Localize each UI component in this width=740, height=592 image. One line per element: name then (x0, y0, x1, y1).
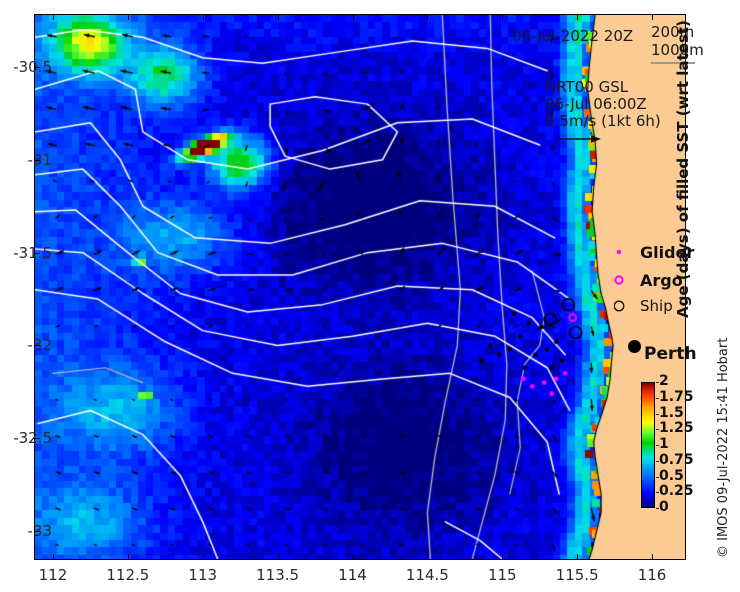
colorbar-tick-label: 0 (659, 499, 669, 515)
colorbar-tick-mark (656, 461, 659, 462)
city-dot-icon (628, 340, 641, 353)
y-tick-label: -32.5 (0, 429, 52, 447)
x-tick-mark (128, 554, 129, 560)
city-label-perth: Perth (644, 344, 697, 364)
colorbar-tick-label: 0.75 (659, 452, 694, 468)
x-tick-label: 116 (617, 566, 687, 584)
x-tick-mark (353, 14, 354, 20)
current-scale-label: 0.5m/s (1kt 6h) (545, 112, 661, 130)
x-tick-label: 115.5 (542, 566, 612, 584)
colorbar-tick-mark (656, 492, 659, 493)
x-tick-mark (128, 14, 129, 20)
colorbar-tick-label: 1 (659, 436, 669, 452)
figure-root: 06-Jul-2022 20Z 200m 1000m NRT00 GSL 06-… (0, 0, 740, 592)
x-tick-mark (652, 554, 653, 560)
y-tick-label: -32 (0, 336, 52, 354)
y-tick-mark (34, 531, 40, 532)
y-tick-mark (34, 345, 40, 346)
legend-label-ship: Ship (640, 297, 673, 315)
x-tick-mark (203, 554, 204, 560)
x-tick-mark (53, 554, 54, 560)
x-tick-mark (427, 554, 428, 560)
x-tick-label: 112 (18, 566, 88, 584)
colorbar-tick-mark (656, 477, 659, 478)
colorbar-tick-mark (656, 445, 659, 446)
x-tick-label: 112.5 (93, 566, 163, 584)
colorbar-tick-label: 1.75 (659, 389, 694, 405)
colorbar-tick-label: 2 (659, 373, 669, 389)
colorbar (641, 382, 655, 508)
x-tick-mark (502, 14, 503, 20)
colorbar-tick-label: 1.5 (659, 405, 684, 421)
y-tick-mark (34, 253, 40, 254)
colorbar-title: Age (days) of filled SST (wrt latest) (674, 20, 692, 318)
colorbar-tick-mark (656, 382, 659, 383)
credit-text: © IMOS 09-Jul-2022 15:41 Hobart (716, 338, 731, 558)
x-tick-mark (577, 14, 578, 20)
colorbar-tick-mark (656, 414, 659, 415)
y-tick-mark (34, 67, 40, 68)
y-tick-label: -31.5 (0, 244, 52, 262)
x-tick-mark (427, 14, 428, 20)
y-tick-label: -33 (0, 522, 52, 540)
date-stamp: 06-Jul-2022 20Z (512, 27, 633, 45)
x-tick-label: 115 (467, 566, 537, 584)
y-tick-mark (34, 160, 40, 161)
ship-circle-icon (614, 298, 630, 314)
x-tick-mark (278, 14, 279, 20)
argo-circle-icon (614, 272, 630, 288)
colorbar-tick-label: 0.5 (659, 468, 684, 484)
y-tick-label: -31 (0, 151, 52, 169)
x-tick-mark (652, 14, 653, 20)
x-tick-label: 113 (168, 566, 238, 584)
x-tick-label: 114 (318, 566, 388, 584)
colorbar-tick-label: 0.25 (659, 483, 694, 499)
x-tick-mark (353, 554, 354, 560)
colorbar-tick-mark (656, 398, 659, 399)
current-source-label: NRT00 GSL (545, 78, 628, 96)
current-time-label: 06-Jul 06:00Z (545, 95, 647, 113)
x-tick-label: 114.5 (392, 566, 462, 584)
x-tick-label: 113.5 (243, 566, 313, 584)
y-tick-label: -30.5 (0, 58, 52, 76)
colorbar-tick-mark (656, 429, 659, 430)
colorbar-tick-label: 1.25 (659, 420, 694, 436)
x-tick-mark (203, 14, 204, 20)
glider-dot-icon (614, 244, 630, 260)
x-tick-mark (278, 554, 279, 560)
x-tick-mark (577, 554, 578, 560)
colorbar-tick-mark (656, 508, 659, 509)
x-tick-mark (53, 14, 54, 20)
y-tick-mark (34, 438, 40, 439)
x-tick-mark (502, 554, 503, 560)
right-arrow-icon (557, 133, 601, 145)
